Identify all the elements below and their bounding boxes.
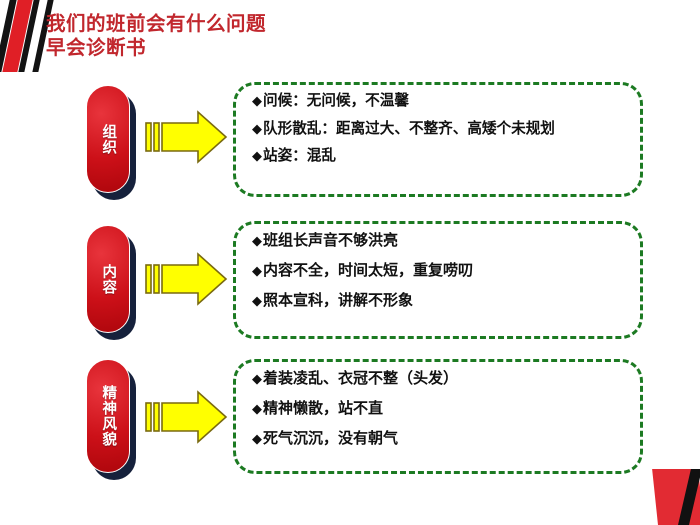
list-item-text: 队形散乱：距离过大、不整齐、高矮个未规划 bbox=[263, 122, 555, 137]
pill-body: 组织 bbox=[86, 85, 130, 193]
title-line-2: 早会诊断书 bbox=[46, 36, 266, 60]
diagnosis-row: 内容 ◆ 班组长声音不够洪亮 ◆ 内容不全，时间太短，重复唠叨 ◆ 照本宣科，讲… bbox=[0, 219, 700, 341]
bullet-icon: ◆ bbox=[252, 403, 262, 416]
bullet-icon: ◆ bbox=[252, 123, 262, 136]
pill-label: 内容 bbox=[100, 264, 116, 295]
bullet-icon: ◆ bbox=[252, 265, 262, 278]
right-arrow-icon bbox=[145, 389, 229, 445]
bullet-icon: ◆ bbox=[252, 295, 262, 308]
list-item: ◆ 死气沉沉，没有朝气 bbox=[252, 431, 626, 446]
title-line-1: 我们的班前会有什么问题 bbox=[46, 12, 266, 36]
pill-body: 精神风貌 bbox=[86, 359, 130, 473]
list-item: ◆ 队形散乱：距离过大、不整齐、高矮个未规划 bbox=[252, 122, 626, 137]
diagnosis-row: 组织 ◆ 问候：无问候，不温馨 ◆ 队形散乱：距离过大、不整齐、高矮个未规划 ◆… bbox=[0, 80, 700, 198]
bullet-icon: ◆ bbox=[252, 95, 262, 108]
list-item: ◆ 精神懒散，站不直 bbox=[252, 401, 626, 416]
diagnosis-content-box: ◆ 班组长声音不够洪亮 ◆ 内容不全，时间太短，重复唠叨 ◆ 照本宣科，讲解不形… bbox=[233, 221, 643, 339]
right-arrow-icon bbox=[145, 251, 229, 307]
list-item-text: 精神懒散，站不直 bbox=[263, 401, 383, 416]
list-item-text: 着装凌乱、衣冠不整（头发） bbox=[263, 371, 458, 386]
right-arrow-icon bbox=[145, 109, 229, 165]
list-item-text: 照本宣科，讲解不形象 bbox=[263, 293, 413, 308]
list-item: ◆ 班组长声音不够洪亮 bbox=[252, 233, 626, 248]
list-item-text: 问候：无问候，不温馨 bbox=[263, 94, 409, 109]
diagnosis-content-box: ◆ 着装凌乱、衣冠不整（头发） ◆ 精神懒散，站不直 ◆ 死气沉沉，没有朝气 bbox=[233, 359, 643, 474]
diagnosis-row: 精神风貌 ◆ 着装凌乱、衣冠不整（头发） ◆ 精神懒散，站不直 ◆ 死气沉沉，没… bbox=[0, 357, 700, 475]
bullet-icon: ◆ bbox=[252, 373, 262, 386]
list-item-text: 内容不全，时间太短，重复唠叨 bbox=[263, 263, 473, 278]
list-item: ◆ 照本宣科，讲解不形象 bbox=[252, 293, 626, 308]
list-item: ◆ 站姿：混乱 bbox=[252, 149, 626, 164]
list-item-text: 站姿：混乱 bbox=[263, 149, 336, 164]
list-item: ◆ 问候：无问候，不温馨 bbox=[252, 94, 626, 109]
bullet-icon: ◆ bbox=[252, 433, 262, 446]
pill-label: 精神风貌 bbox=[100, 385, 116, 447]
pill-label: 组织 bbox=[100, 124, 116, 155]
list-item: ◆ 内容不全，时间太短，重复唠叨 bbox=[252, 263, 626, 278]
pill-body: 内容 bbox=[86, 225, 130, 333]
list-item: ◆ 着装凌乱、衣冠不整（头发） bbox=[252, 371, 626, 386]
list-item-text: 死气沉沉，没有朝气 bbox=[263, 431, 398, 446]
bottom-right-corner-decoration bbox=[652, 469, 700, 525]
bullet-icon: ◆ bbox=[252, 150, 262, 163]
bullet-icon: ◆ bbox=[252, 235, 262, 248]
diagnosis-content-box: ◆ 问候：无问候，不温馨 ◆ 队形散乱：距离过大、不整齐、高矮个未规划 ◆ 站姿… bbox=[233, 82, 643, 197]
list-item-text: 班组长声音不够洪亮 bbox=[263, 233, 398, 248]
page-title: 我们的班前会有什么问题 早会诊断书 bbox=[46, 12, 266, 60]
